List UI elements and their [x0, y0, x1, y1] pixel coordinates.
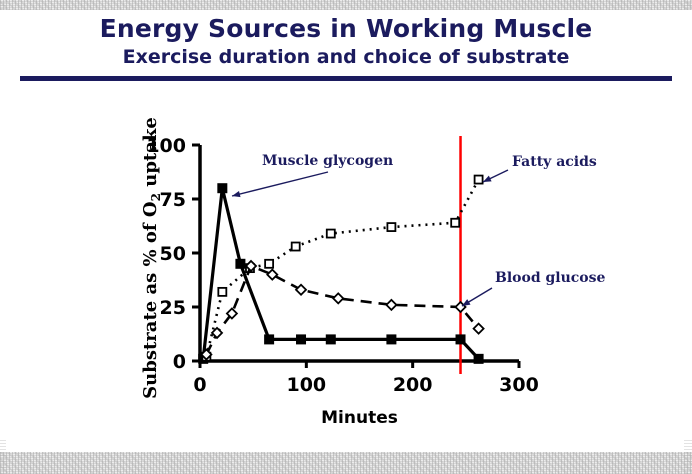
x-axis-title: Minutes: [321, 408, 398, 428]
chart-annotations: Muscle glycogenFatty acidsBlood glucose: [232, 153, 606, 306]
data-point-marker: [386, 300, 396, 310]
data-point-marker: [265, 260, 273, 268]
x-tick-label: 0: [193, 374, 206, 396]
data-point-marker: [267, 270, 277, 280]
annotation-leader-line: [232, 172, 328, 196]
annotation-arrowhead: [462, 299, 471, 306]
data-point-marker: [451, 219, 459, 227]
data-point-marker: [235, 259, 245, 269]
y-tick-label: 25: [160, 297, 186, 319]
decorative-texture-band-top: [0, 0, 692, 10]
energy-sources-line-chart: 01002003000255075100 Muscle glycogenFatt…: [0, 88, 692, 438]
y-tick-label: 0: [173, 351, 186, 373]
data-point-marker: [264, 334, 274, 344]
x-tick-label: 100: [286, 374, 326, 396]
y-axis-title: Substrate as % of O2 uptake: [140, 117, 163, 399]
chart-container: 01002003000255075100 Muscle glycogenFatt…: [0, 88, 692, 438]
data-point-marker: [296, 285, 306, 295]
annotation-arrowhead: [483, 176, 492, 182]
page-subtitle: Exercise duration and choice of substrat…: [0, 45, 692, 69]
y-tick-label: 50: [160, 243, 186, 265]
slide-canvas: Energy Sources in Working Muscle Exercis…: [0, 10, 692, 440]
data-point-marker: [292, 243, 300, 251]
data-point-marker: [474, 324, 484, 334]
y-tick-label: 75: [160, 189, 186, 211]
x-tick-label: 300: [499, 374, 539, 396]
annotation-muscle-glycogen: Muscle glycogen: [232, 153, 393, 197]
annotation-label: Fatty acids: [512, 154, 597, 170]
data-point-marker: [217, 183, 227, 193]
data-point-marker: [386, 334, 396, 344]
chart-series-group: [198, 176, 483, 364]
annotation-label: Muscle glycogen: [262, 153, 393, 169]
series-polyline: [203, 188, 478, 359]
data-point-marker: [456, 334, 466, 344]
x-tick-label: 200: [393, 374, 433, 396]
data-point-marker: [326, 334, 336, 344]
series-muscle-glycogen: [198, 183, 483, 364]
page-title: Energy Sources in Working Muscle: [0, 14, 692, 44]
annotation-blood-glucose: Blood glucose: [462, 270, 606, 306]
decorative-texture-band-bottom: [0, 452, 692, 474]
data-point-marker: [218, 288, 226, 296]
data-point-marker: [296, 334, 306, 344]
data-point-marker: [327, 230, 335, 238]
annotation-fatty-acids: Fatty acids: [483, 154, 597, 182]
data-point-marker: [333, 293, 343, 303]
title-divider: [20, 76, 672, 81]
title-block: Energy Sources in Working Muscle Exercis…: [0, 10, 692, 69]
annotation-label: Blood glucose: [495, 270, 606, 286]
data-point-marker: [475, 176, 483, 184]
data-point-marker: [474, 354, 484, 364]
data-point-marker: [387, 223, 395, 231]
